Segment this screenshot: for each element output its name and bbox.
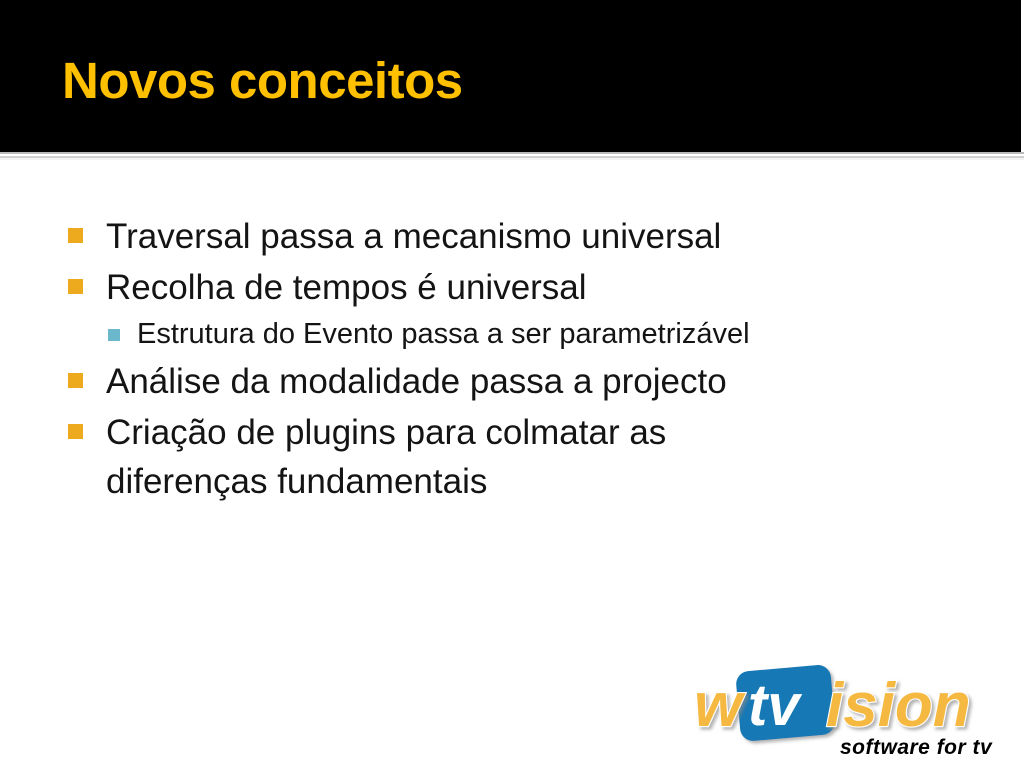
wtvision-logo: w ision tv software for tv [688,662,1018,762]
list-item: Recolha de tempos é universal [60,263,960,312]
logo-word-part-2: tv [748,673,802,738]
square-bullet-icon [68,373,83,388]
slide-header-band: Novos conceitos [0,0,1021,152]
square-sub-bullet-icon [108,329,120,341]
slide: Novos conceitos Traversal passa a mecani… [0,0,1024,768]
logo-word-part-1: w [694,671,746,740]
header-divider [0,152,1024,162]
square-bullet-icon [68,279,83,294]
list-item: Análise da modalidade passa a projecto [60,357,960,406]
bullet-list: Traversal passa a mecanismo universal Re… [60,212,960,508]
page-title: Novos conceitos [62,52,463,110]
list-item-label: Análise da modalidade passa a projecto [106,357,727,406]
logo-word-part-3: ision [826,671,971,740]
list-item-label: Criação de plugins para colmatar as dife… [106,408,806,506]
divider-line-faint [0,158,1024,160]
list-item-label: Recolha de tempos é universal [106,263,587,312]
square-bullet-icon [68,424,83,439]
list-item: Criação de plugins para colmatar as dife… [60,408,960,506]
list-item: Traversal passa a mecanismo universal [60,212,960,261]
sub-list-item: Estrutura do Evento passa a ser parametr… [60,314,960,355]
list-item-label: Traversal passa a mecanismo universal [106,212,721,261]
sub-list-item-label: Estrutura do Evento passa a ser parametr… [137,314,750,355]
logo-wordmark-gold: w ision [694,671,971,740]
logo-tagline: software for tv [840,736,993,759]
square-bullet-icon [68,228,83,243]
